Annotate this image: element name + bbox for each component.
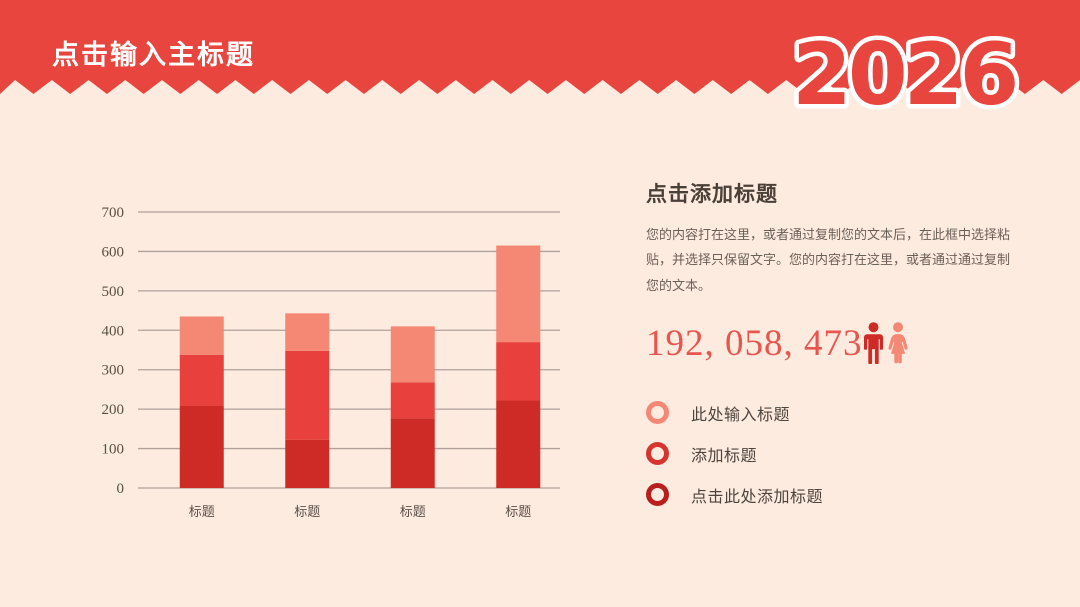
y-tick-label: 400 xyxy=(102,323,125,339)
x-tick-label: 标题 xyxy=(505,504,531,519)
x-tick-label: 标题 xyxy=(294,504,320,519)
bullet-list-item[interactable]: 点击此处添加标题 xyxy=(646,474,1036,515)
bar-segment xyxy=(391,382,435,418)
ring-bullet-icon xyxy=(646,401,669,424)
y-tick-label: 100 xyxy=(102,442,125,458)
ring-bullet-icon xyxy=(646,442,669,465)
bar-segment xyxy=(180,406,224,488)
chart-bars xyxy=(180,246,541,488)
statistic-value: 192, 058, 473 xyxy=(646,322,863,365)
statistic-row: 192, 058, 473 xyxy=(646,320,1036,366)
bar-segment xyxy=(496,400,540,488)
y-tick-label: 200 xyxy=(102,402,125,418)
y-tick-label: 500 xyxy=(102,284,125,300)
bullet-label: 添加标题 xyxy=(691,442,757,466)
male-figure-icon xyxy=(864,322,883,364)
x-tick-label: 标题 xyxy=(189,504,215,519)
y-tick-label: 600 xyxy=(102,244,125,260)
bar-segment xyxy=(180,355,224,406)
year-fill: 2026 xyxy=(792,25,1016,125)
x-tick-label: 标题 xyxy=(400,504,426,519)
female-figure-icon xyxy=(888,322,908,364)
stacked-bar-chart: 0100200300400500600700 标题标题标题标题 xyxy=(0,0,600,560)
bar-segment xyxy=(391,418,435,488)
bar-segment xyxy=(496,342,540,400)
chart-canvas: 0100200300400500600700 标题标题标题标题 xyxy=(0,0,600,560)
bar-segment xyxy=(285,313,329,350)
bar-segment xyxy=(285,351,329,440)
bar-segment xyxy=(391,326,435,382)
bullet-label: 点击此处添加标题 xyxy=(691,483,823,507)
right-content-panel: 点击添加标题 您的内容打在这里，或者通过复制您的文本后，在此框中选择粘贴，并选择… xyxy=(646,178,1036,515)
panel-body-text: 您的内容打在这里，或者通过复制您的文本后，在此框中选择粘贴，并选择只保留文字。您… xyxy=(646,222,1010,298)
chart-x-axis-labels: 标题标题标题标题 xyxy=(189,504,532,519)
bullet-list: 此处输入标题添加标题点击此处添加标题 xyxy=(646,392,1036,515)
bar-segment xyxy=(285,440,329,488)
y-tick-label: 0 xyxy=(117,481,125,497)
chart-y-axis-labels: 0100200300400500600700 xyxy=(102,205,125,497)
y-tick-label: 300 xyxy=(102,363,125,379)
ring-bullet-icon xyxy=(646,483,669,506)
y-tick-label: 700 xyxy=(102,205,125,221)
bar-segment xyxy=(496,246,540,343)
bullet-list-item[interactable]: 此处输入标题 xyxy=(646,392,1036,433)
year-2026-decoration-icon: 2026 2026 xyxy=(786,18,1036,128)
panel-heading: 点击添加标题 xyxy=(646,178,1036,208)
bullet-list-item[interactable]: 添加标题 xyxy=(646,433,1036,474)
bar-segment xyxy=(180,316,224,354)
gender-figure-icons xyxy=(864,322,908,364)
bullet-label: 此处输入标题 xyxy=(691,401,790,425)
